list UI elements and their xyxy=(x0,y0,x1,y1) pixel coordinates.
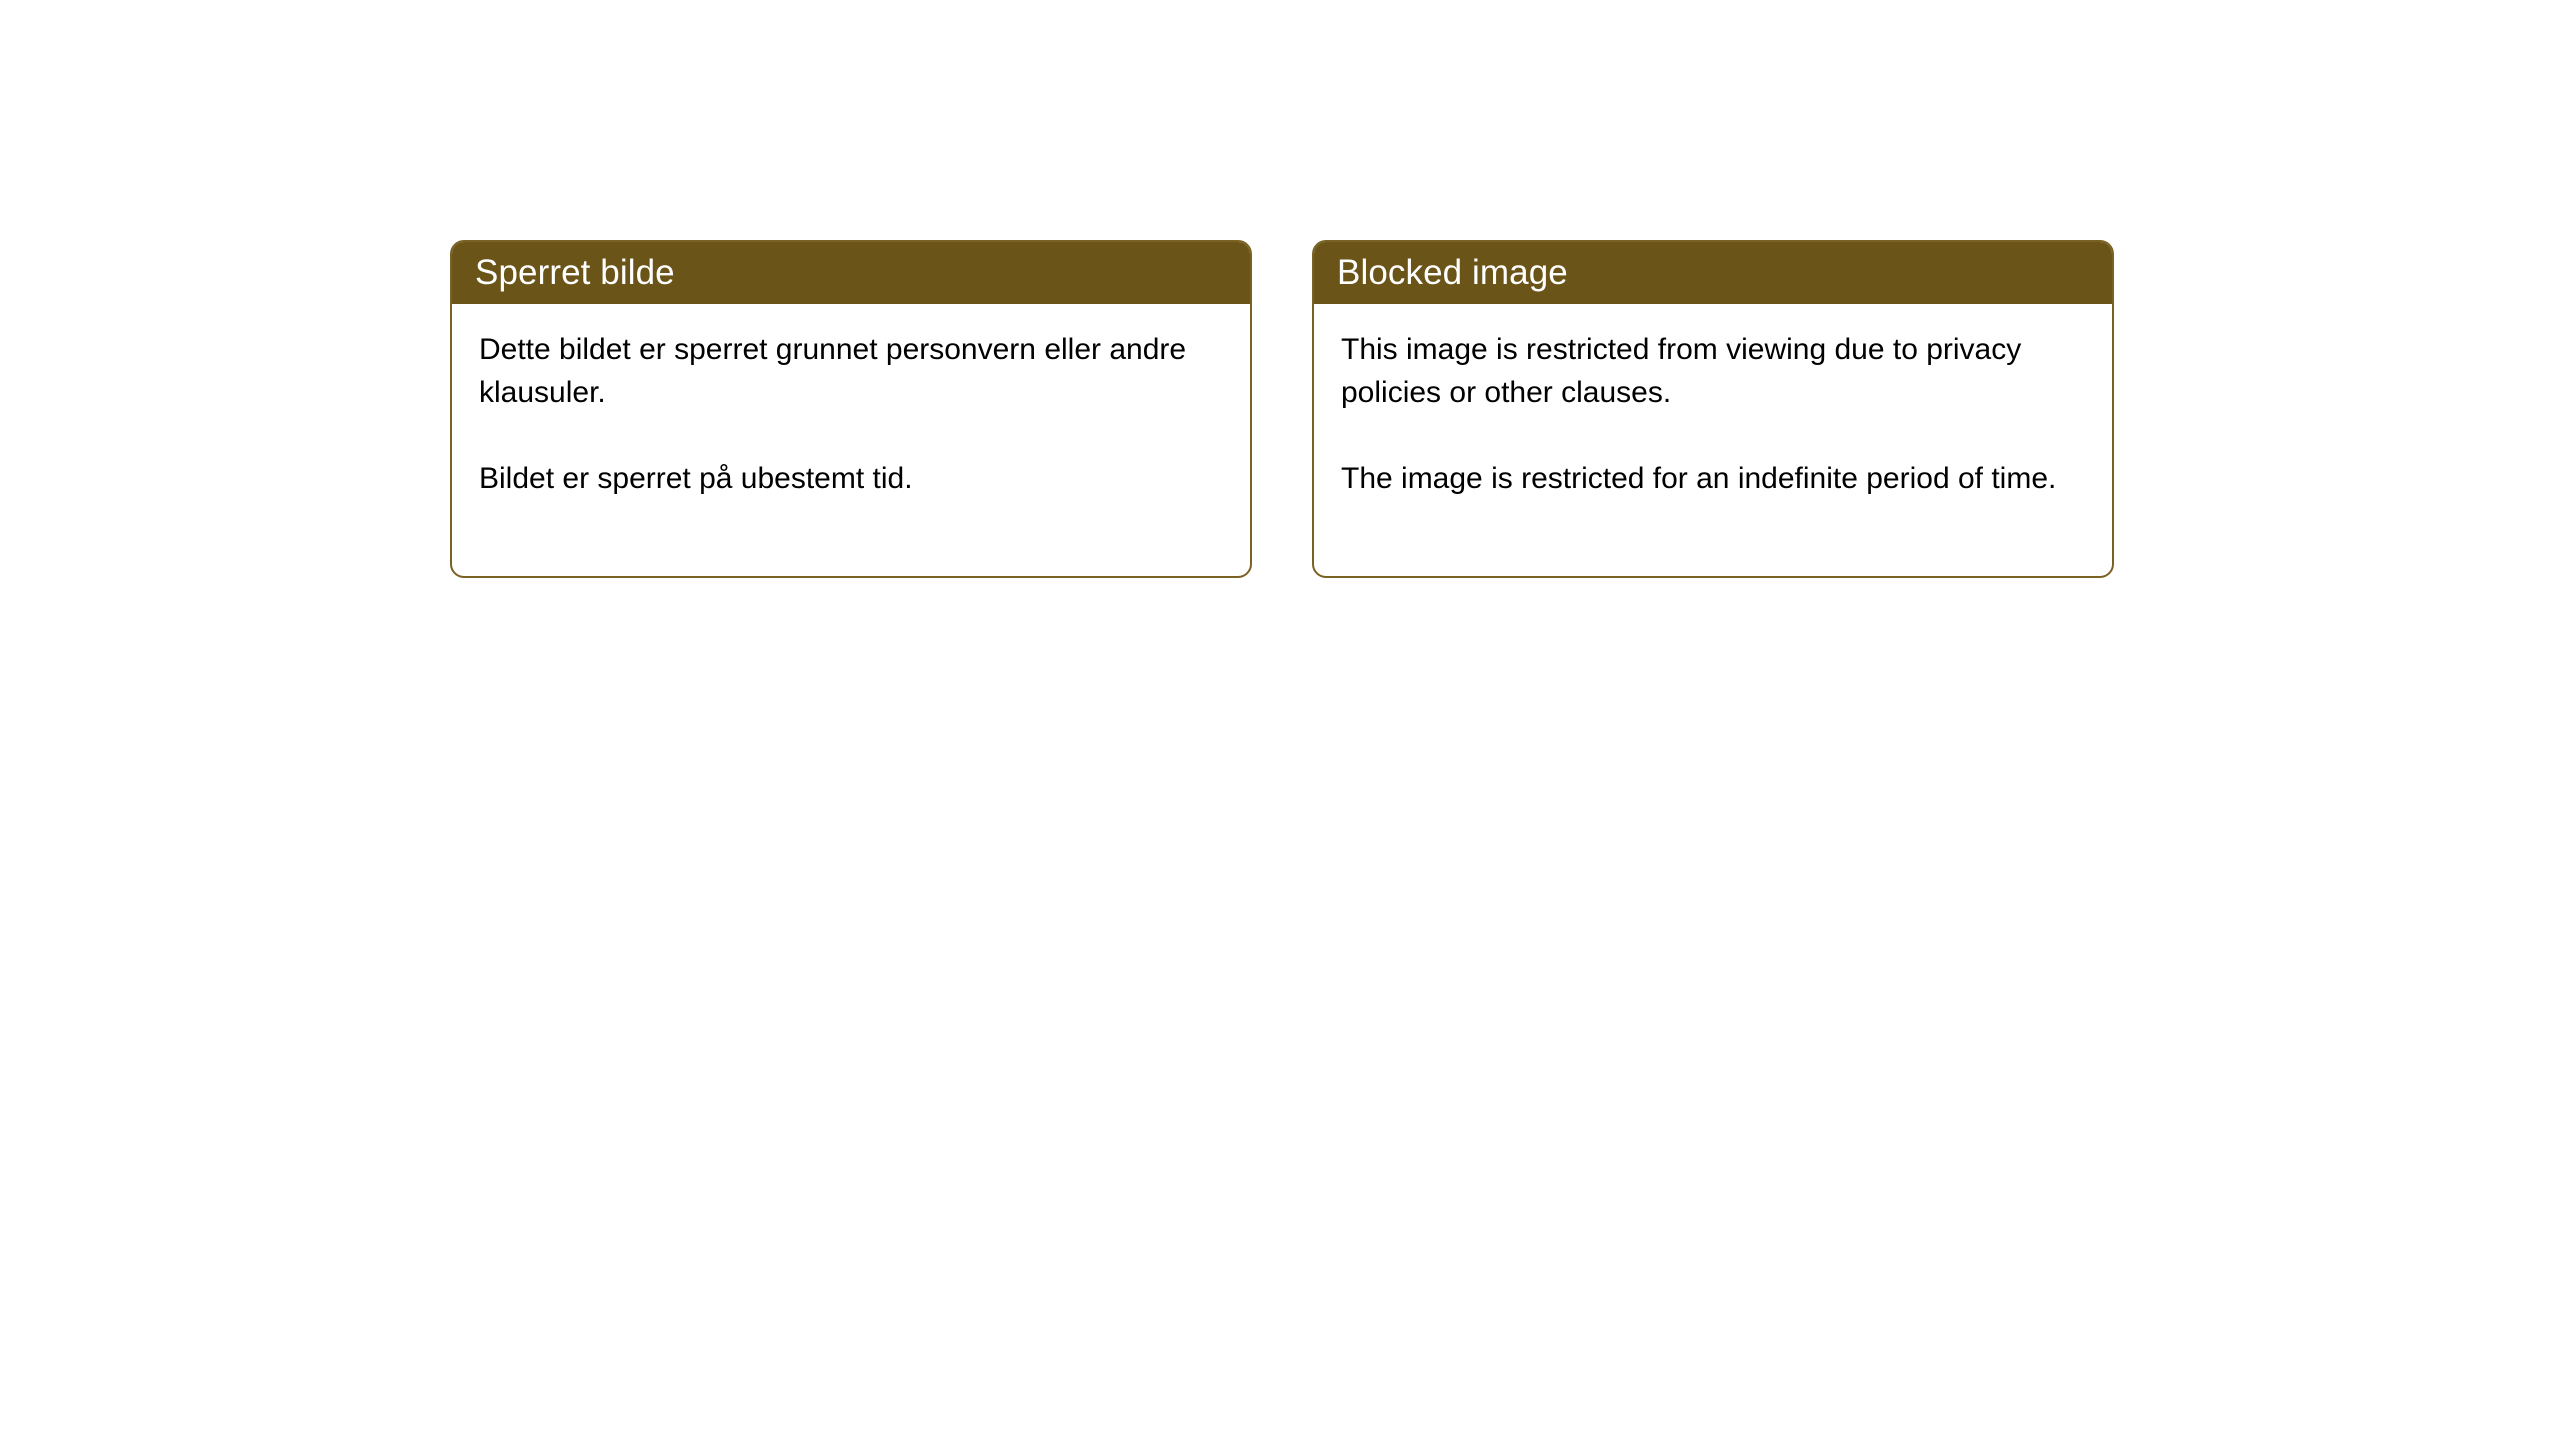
panel-title-norwegian: Sperret bilde xyxy=(475,255,675,290)
panel-header-norwegian: Sperret bilde xyxy=(450,240,1252,304)
page-root: Sperret bilde Dette bildet er sperret gr… xyxy=(0,0,2560,1440)
panel-paragraph-duration-english: The image is restricted for an indefinit… xyxy=(1341,457,2084,500)
panel-paragraph-privacy-norwegian: Dette bildet er sperret grunnet personve… xyxy=(479,328,1222,414)
panel-body-norwegian: Dette bildet er sperret grunnet personve… xyxy=(452,304,1250,500)
panel-paragraph-privacy-english: This image is restricted from viewing du… xyxy=(1341,328,2084,414)
panel-header-english: Blocked image xyxy=(1312,240,2114,304)
panel-body-english: This image is restricted from viewing du… xyxy=(1314,304,2112,500)
blocked-image-panel-norwegian: Sperret bilde Dette bildet er sperret gr… xyxy=(450,240,1252,578)
panel-paragraph-duration-norwegian: Bildet er sperret på ubestemt tid. xyxy=(479,457,1222,500)
blocked-image-panel-english: Blocked image This image is restricted f… xyxy=(1312,240,2114,578)
panel-title-english: Blocked image xyxy=(1337,255,1568,290)
